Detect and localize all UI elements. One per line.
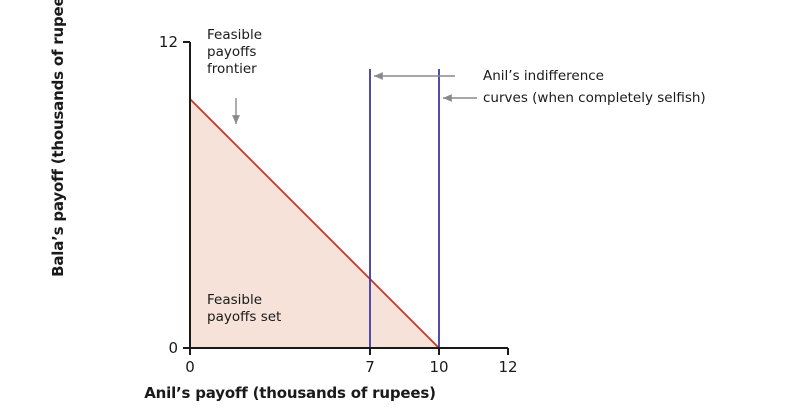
- x-tick-label-10: 10: [419, 358, 459, 376]
- x-tick-label-0: 0: [170, 358, 210, 376]
- indifference-annotation-line2: curves (when completely selfish): [483, 90, 706, 107]
- y-tick-label-12: 12: [138, 33, 178, 51]
- frontier-annotation-label: Feasible payoffs frontier: [207, 27, 262, 78]
- x-tick-label-12: 12: [488, 358, 528, 376]
- chart-svg: [0, 0, 810, 411]
- feasible-set-annotation-label: Feasible payoffs set: [207, 292, 281, 326]
- x-axis-title: Anil’s payoff (thousands of rupees): [60, 384, 520, 402]
- y-axis-title: Bala’s payoff (thousands of rupees): [49, 0, 67, 279]
- y-tick-label-0: 0: [138, 339, 178, 357]
- x-tick-label-7: 7: [350, 358, 390, 376]
- indifference-annotation-line1: Anil’s indifference: [483, 68, 604, 85]
- chart-canvas: Bala’s payoff (thousands of rupees) Anil…: [0, 0, 810, 411]
